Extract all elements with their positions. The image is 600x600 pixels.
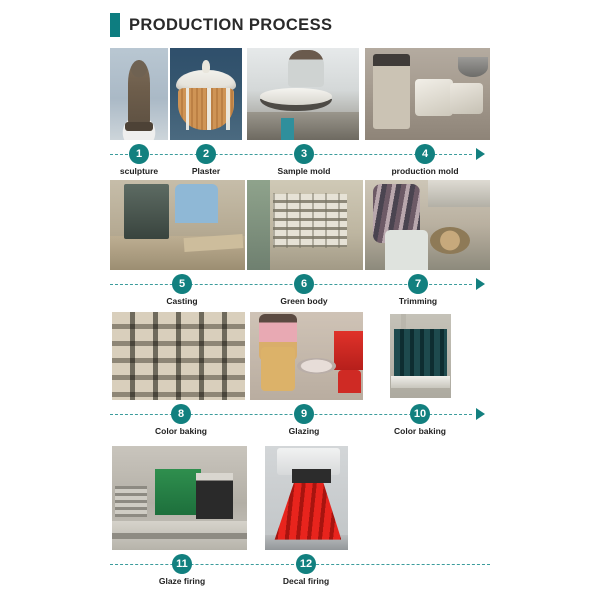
step-caption-12: Decal firing <box>283 576 329 586</box>
step-caption-10: Color baking <box>394 426 446 436</box>
decal-firing-photo <box>265 446 348 550</box>
row-2-connector: 5 6 7 Casting Green body Trimming <box>110 274 490 296</box>
color-baking-photo <box>112 312 245 400</box>
casting-photo <box>110 180 245 270</box>
step-badge-10[interactable]: 10 <box>410 404 430 424</box>
production-process-page: PRODUCTION PROCESS 1 2 3 4 sculpture <box>0 0 600 600</box>
step-caption-8: Color baking <box>155 426 207 436</box>
row-2-arrow-icon <box>476 278 485 290</box>
trimming-photo <box>365 180 490 270</box>
step-caption-4: production mold <box>391 166 458 176</box>
row-1-connector: 1 2 3 4 sculpture Plaster Sample mold pr… <box>110 144 490 166</box>
row-3-arrow-icon <box>476 408 485 420</box>
row-3-connector: 8 9 10 Color baking Glazing Color baking <box>110 404 490 426</box>
step-badge-7[interactable]: 7 <box>408 274 428 294</box>
step-badge-6[interactable]: 6 <box>294 274 314 294</box>
step-caption-6: Green body <box>280 296 327 306</box>
step-badge-11[interactable]: 11 <box>172 554 192 574</box>
step-caption-2: Plaster <box>192 166 220 176</box>
sample-mold-photo <box>247 48 359 140</box>
plaster-photo <box>170 48 242 140</box>
page-header: PRODUCTION PROCESS <box>110 12 332 38</box>
step-badge-8[interactable]: 8 <box>171 404 191 424</box>
step-caption-9: Glazing <box>289 426 320 436</box>
color-baking-2-photo <box>390 314 451 398</box>
step-caption-11: Glaze firing <box>159 576 205 586</box>
step-badge-4[interactable]: 4 <box>415 144 435 164</box>
step-badge-5[interactable]: 5 <box>172 274 192 294</box>
header-accent-bar <box>110 13 120 37</box>
glazing-photo <box>250 312 363 400</box>
sculpture-photo <box>110 48 168 140</box>
step-badge-3[interactable]: 3 <box>294 144 314 164</box>
production-mold-photo <box>365 48 490 140</box>
row-4-connector: 11 12 Glaze firing Decal firing <box>110 554 490 576</box>
step-badge-12[interactable]: 12 <box>296 554 316 574</box>
row-1-arrow-icon <box>476 148 485 160</box>
step-caption-1: sculpture <box>120 166 158 176</box>
step-caption-3: Sample mold <box>278 166 331 176</box>
step-badge-1[interactable]: 1 <box>129 144 149 164</box>
page-title: PRODUCTION PROCESS <box>129 13 332 37</box>
step-caption-5: Casting <box>166 296 197 306</box>
step-badge-2[interactable]: 2 <box>196 144 216 164</box>
glaze-firing-photo <box>112 446 247 550</box>
step-badge-9[interactable]: 9 <box>294 404 314 424</box>
step-caption-7: Trimming <box>399 296 437 306</box>
green-body-photo <box>247 180 363 270</box>
